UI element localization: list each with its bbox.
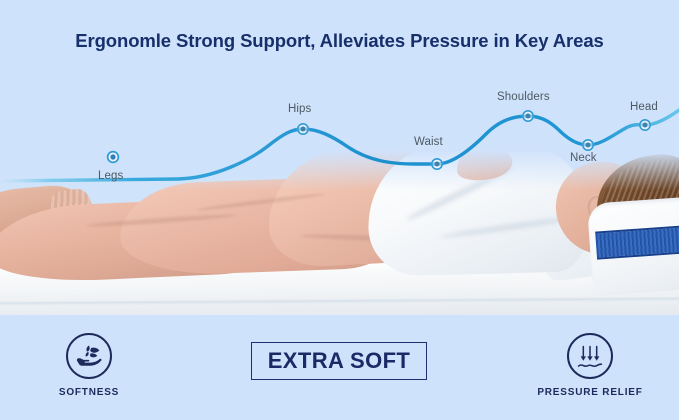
contour-label-waist: Waist xyxy=(414,136,443,148)
hand-holding-leaf-icon xyxy=(66,333,112,379)
page-title: Ergonomle Strong Support, Alleviates Pre… xyxy=(0,30,679,52)
extra-soft-badge: EXTRA SOFT xyxy=(251,342,427,380)
feature-softness: SOFTNESS xyxy=(14,333,164,398)
product-infographic: Ergonomle Strong Support, Alleviates Pre… xyxy=(0,0,679,420)
feature-softness-label: SOFTNESS xyxy=(14,387,164,398)
contour-label-legs: Legs xyxy=(98,170,123,182)
extra-soft-label: EXTRA SOFT xyxy=(268,348,411,374)
downward-arrows-wave-icon xyxy=(567,333,613,379)
contour-label-hips: Hips xyxy=(288,103,311,115)
contour-label-shoulders: Shoulders xyxy=(497,91,550,103)
contour-label-head: Head xyxy=(630,101,658,113)
contour-label-neck: Neck xyxy=(570,152,597,164)
feature-pressure-relief-label: PRESSURE RELIEF xyxy=(515,387,665,398)
feature-pressure-relief: PRESSURE RELIEF xyxy=(515,333,665,398)
